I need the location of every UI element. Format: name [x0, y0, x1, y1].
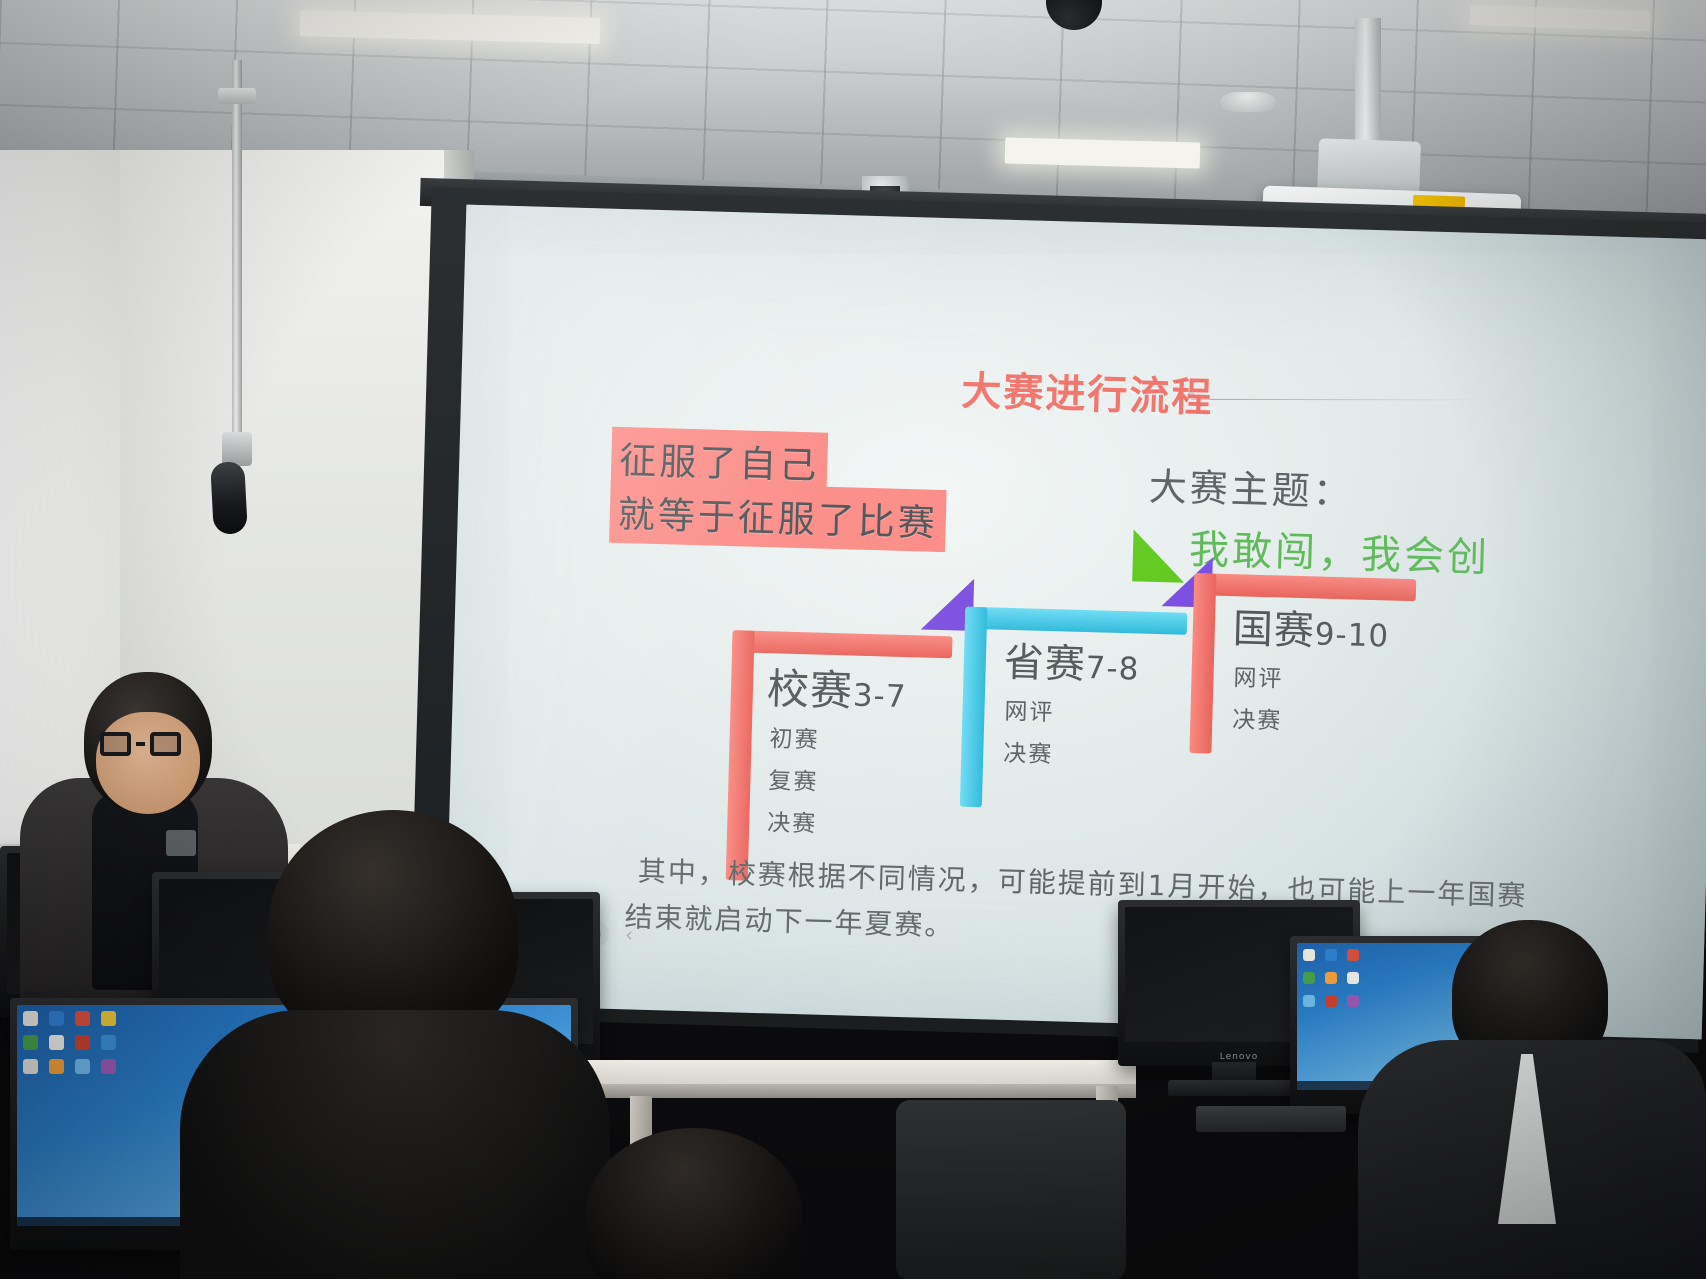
desktop-icon[interactable]	[75, 1035, 90, 1050]
desktop-icon[interactable]	[101, 1035, 116, 1050]
desktop-icon[interactable]	[23, 1035, 38, 1050]
desktop-icon[interactable]	[49, 1059, 64, 1074]
monitor-brand-label: Lenovo	[1220, 1052, 1258, 1062]
chair	[896, 1100, 1126, 1279]
desktop-icon-grid[interactable]	[23, 1011, 118, 1076]
desktop-icon[interactable]	[1347, 995, 1359, 1007]
desktop-icon[interactable]	[75, 1059, 90, 1074]
desktop-icon[interactable]	[49, 1035, 64, 1050]
desktop-icon[interactable]	[101, 1011, 116, 1026]
desktop-icon[interactable]	[1325, 949, 1337, 961]
desktop-icon[interactable]	[23, 1011, 38, 1026]
desktop-icon[interactable]	[1303, 972, 1315, 984]
desktop-icon[interactable]	[101, 1059, 116, 1074]
presenter-face	[96, 712, 200, 814]
student-desk-edge	[576, 1084, 1136, 1098]
keyboard[interactable]	[1196, 1106, 1346, 1132]
desktop-icon[interactable]	[1347, 949, 1359, 961]
desktop-icon[interactable]	[1347, 972, 1359, 984]
desktop-icon[interactable]	[75, 1011, 90, 1026]
student-head	[586, 1128, 802, 1279]
glasses-icon	[100, 732, 181, 756]
student-shoulders	[180, 1010, 610, 1279]
desktop-icon[interactable]	[1303, 995, 1315, 1007]
glasses-lens-left	[100, 732, 131, 756]
foreground: Lenovo	[0, 0, 1706, 1279]
desktop-icon[interactable]	[1325, 972, 1337, 984]
desktop-icon[interactable]	[1325, 995, 1337, 1007]
classroom-scene: 大赛进行流程 征服了自己 就等于征服了比赛 大赛主题： 我敢闯，我会创 校赛3-…	[0, 0, 1706, 1279]
student-desk	[576, 1060, 1136, 1086]
desktop-icon-grid[interactable]	[1303, 949, 1362, 1012]
desktop-icon[interactable]	[23, 1059, 38, 1074]
monitor-base	[1168, 1080, 1304, 1096]
glasses-bridge	[136, 742, 145, 746]
desktop-icon[interactable]	[1303, 949, 1315, 961]
presenter-shirt-logo	[166, 830, 196, 856]
desktop-icon[interactable]	[49, 1011, 64, 1026]
glasses-lens-right	[150, 732, 181, 756]
